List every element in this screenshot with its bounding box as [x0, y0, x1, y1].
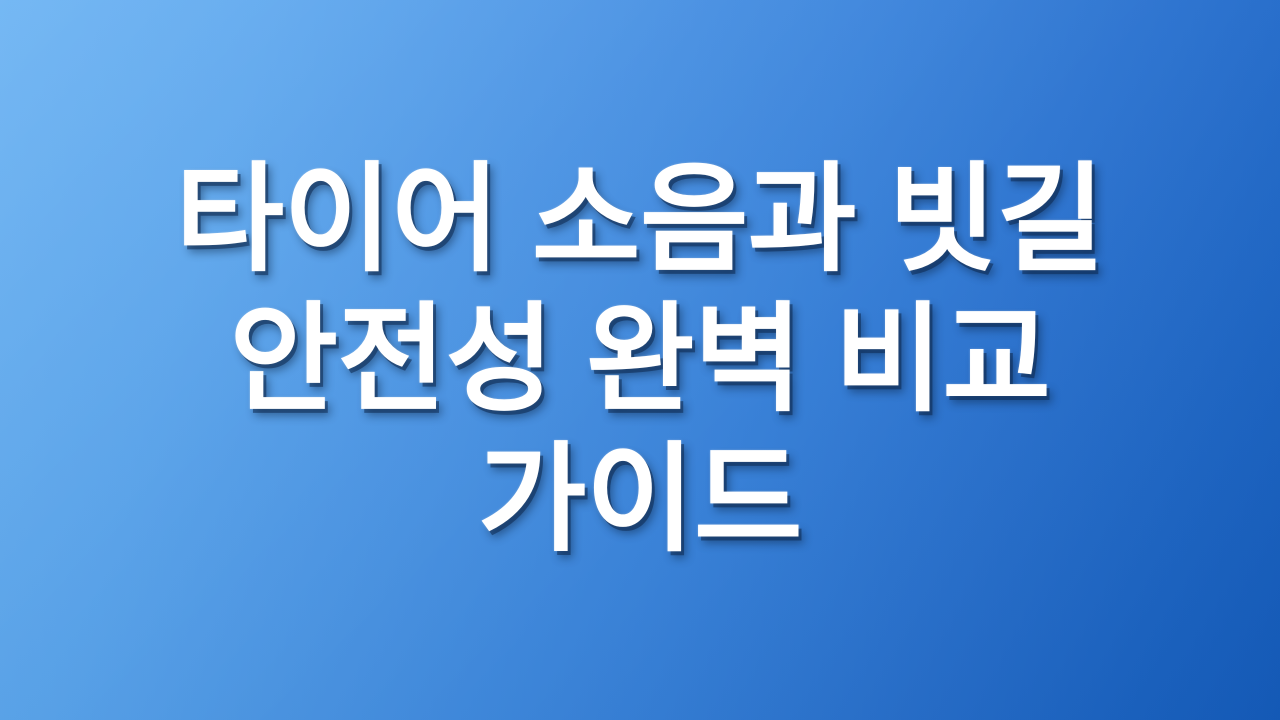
- title-line-3: 가이드: [40, 430, 1240, 570]
- title-line-2: 안전성 완벽 비교: [40, 290, 1240, 430]
- thumbnail-canvas: 타이어 소음과 빗길 안전성 완벽 비교 가이드: [0, 0, 1280, 720]
- title-line-1: 타이어 소음과 빗길: [40, 150, 1240, 290]
- title-block: 타이어 소음과 빗길 안전성 완벽 비교 가이드: [0, 150, 1280, 570]
